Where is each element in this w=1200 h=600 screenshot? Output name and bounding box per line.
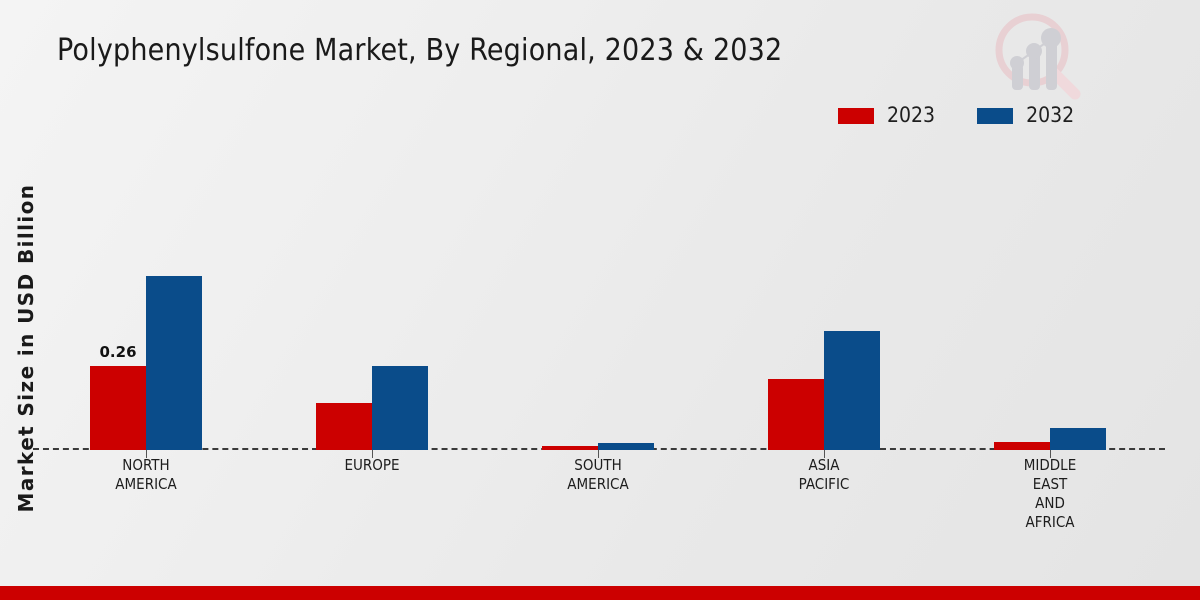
bar-2023-asia-pacific[interactable] bbox=[768, 379, 824, 450]
legend-swatch-2023 bbox=[838, 108, 874, 124]
bar-2032-asia-pacific[interactable] bbox=[824, 331, 880, 450]
bar-2023-north-america[interactable]: 0.26 bbox=[90, 366, 146, 450]
bar-2032-south-america[interactable] bbox=[598, 443, 654, 450]
legend-item-2032[interactable]: 2032 bbox=[977, 105, 1074, 126]
bar-2032-middle-east-and-africa[interactable] bbox=[1050, 428, 1106, 450]
legend-item-2023[interactable]: 2023 bbox=[838, 105, 935, 126]
bar-group-south-america: SOUTH AMERICA bbox=[485, 150, 711, 450]
bar-group-north-america: 0.26 NORTH AMERICA bbox=[33, 150, 259, 450]
chart-title: Polyphenylsulfone Market, By Regional, 2… bbox=[57, 33, 782, 68]
x-axis-label-asia-pacific: ASIA PACIFIC bbox=[799, 456, 850, 494]
bar-2023-europe[interactable] bbox=[316, 403, 372, 450]
chart-page: Polyphenylsulfone Market, By Regional, 2… bbox=[0, 0, 1200, 600]
bar-2023-south-america[interactable] bbox=[542, 446, 598, 450]
x-axis-label-north-america: NORTH AMERICA bbox=[115, 456, 176, 494]
bar-2023-middle-east-and-africa[interactable] bbox=[994, 442, 1050, 450]
bar-2032-north-america[interactable] bbox=[146, 276, 202, 450]
plot-area: 0.26 NORTH AMERICA EUROPE SOUTH AMERICA bbox=[33, 150, 1165, 450]
legend-swatch-2032 bbox=[977, 108, 1013, 124]
x-axis-label-south-america: SOUTH AMERICA bbox=[567, 456, 628, 494]
bar-group-europe: EUROPE bbox=[259, 150, 485, 450]
bar-group-asia-pacific: ASIA PACIFIC bbox=[711, 150, 937, 450]
bar-value-label-north-america-2023: 0.26 bbox=[99, 343, 136, 361]
x-axis-label-europe: EUROPE bbox=[344, 456, 399, 475]
legend-label-2023: 2023 bbox=[887, 105, 935, 126]
bar-2032-europe[interactable] bbox=[372, 366, 428, 450]
legend-label-2032: 2032 bbox=[1026, 105, 1074, 126]
bottom-accent-bar bbox=[0, 586, 1200, 600]
magnifier-bar-chart-logo-icon bbox=[985, 8, 1090, 100]
x-axis-label-middle-east-and-africa: MIDDLE EAST AND AFRICA bbox=[1024, 456, 1076, 532]
chart-legend: 2023 2032 bbox=[838, 105, 1074, 126]
bar-group-middle-east-and-africa: MIDDLE EAST AND AFRICA bbox=[937, 150, 1163, 450]
